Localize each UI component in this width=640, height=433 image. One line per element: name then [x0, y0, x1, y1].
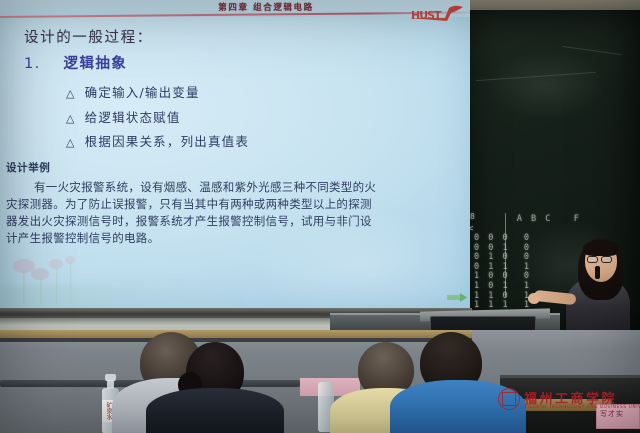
green-arrow-icon[interactable]	[447, 287, 467, 296]
glasses-left-lens-icon	[587, 256, 598, 263]
svg-text:HUST: HUST	[411, 9, 442, 22]
slide-paragraph-line: 有一火灾报警系统，设有烟感、温感和紫外光感三种不同类型的火	[6, 179, 376, 195]
sub-item-label: 给逻辑状态赋值	[85, 110, 181, 125]
slide-paragraph-line: 器发出火灾探测信号时，报警系统才产生报警控制信号，试用与非门设	[6, 213, 372, 229]
projection-screen: 第四章 组合逻辑电路 HUST 设计的一般过程： 1. 逻辑抽象 △确定输入/输…	[0, 0, 470, 312]
rail-shadow	[0, 338, 472, 342]
hust-logo: HUST	[405, 2, 467, 24]
glasses-right-lens-icon	[601, 256, 612, 263]
triangle-bullet-icon: △	[66, 136, 76, 149]
item-text: 逻辑抽象	[64, 56, 128, 72]
sub-item-label: 确定输入/输出变量	[85, 85, 200, 100]
slide-chapter-header: 第四章 组合逻辑电路	[176, 1, 356, 13]
item-number: 1.	[24, 56, 41, 72]
triangle-bullet-icon: △	[66, 112, 76, 125]
slide-sub-item: △根据因果关系，列出真值表	[66, 131, 249, 150]
classroom-photo: 8 < A B C F 0 0 0 0 0 0 1 0 0 1 0 0 0 1 …	[0, 0, 640, 433]
lecturer-hand	[528, 293, 540, 304]
watermark-logo: 福州工商学院 FUZHOU TECHNOLOGY AND BUSINESS UN…	[498, 386, 626, 414]
truth-table-header: A B C F	[474, 204, 581, 234]
slide-paragraph-line: 灾探测器。为了防止误报警，只有当其中有两种或两种类型以上的探测	[6, 196, 372, 212]
col-f: F	[574, 214, 581, 224]
lecturer-fringe	[583, 240, 619, 256]
sub-item-label: 根据因果关系，列出真值表	[85, 134, 249, 149]
bottle-label-text: 矿泉水	[105, 402, 111, 420]
col-a: A	[517, 214, 524, 224]
triangle-bullet-icon: △	[66, 87, 76, 100]
watermark-subtitle: FUZHOU TECHNOLOGY AND BUSINESS UNIVERSIT…	[525, 404, 640, 409]
slide-sub-item: △确定输入/输出变量	[66, 82, 200, 101]
slide-title: 设计的一般过程：	[24, 26, 153, 47]
slide-numbered-item: 1. 逻辑抽象	[24, 52, 127, 73]
slide-example-heading: 设计举例	[6, 160, 50, 175]
microphone-icon	[595, 266, 600, 279]
seal-inner-icon	[502, 392, 516, 406]
slide-paragraph-line: 计产生报警控制信号的电路。	[6, 230, 159, 246]
slide-sub-item: △给逻辑状态赋值	[66, 107, 181, 126]
audience-torso	[146, 388, 284, 433]
